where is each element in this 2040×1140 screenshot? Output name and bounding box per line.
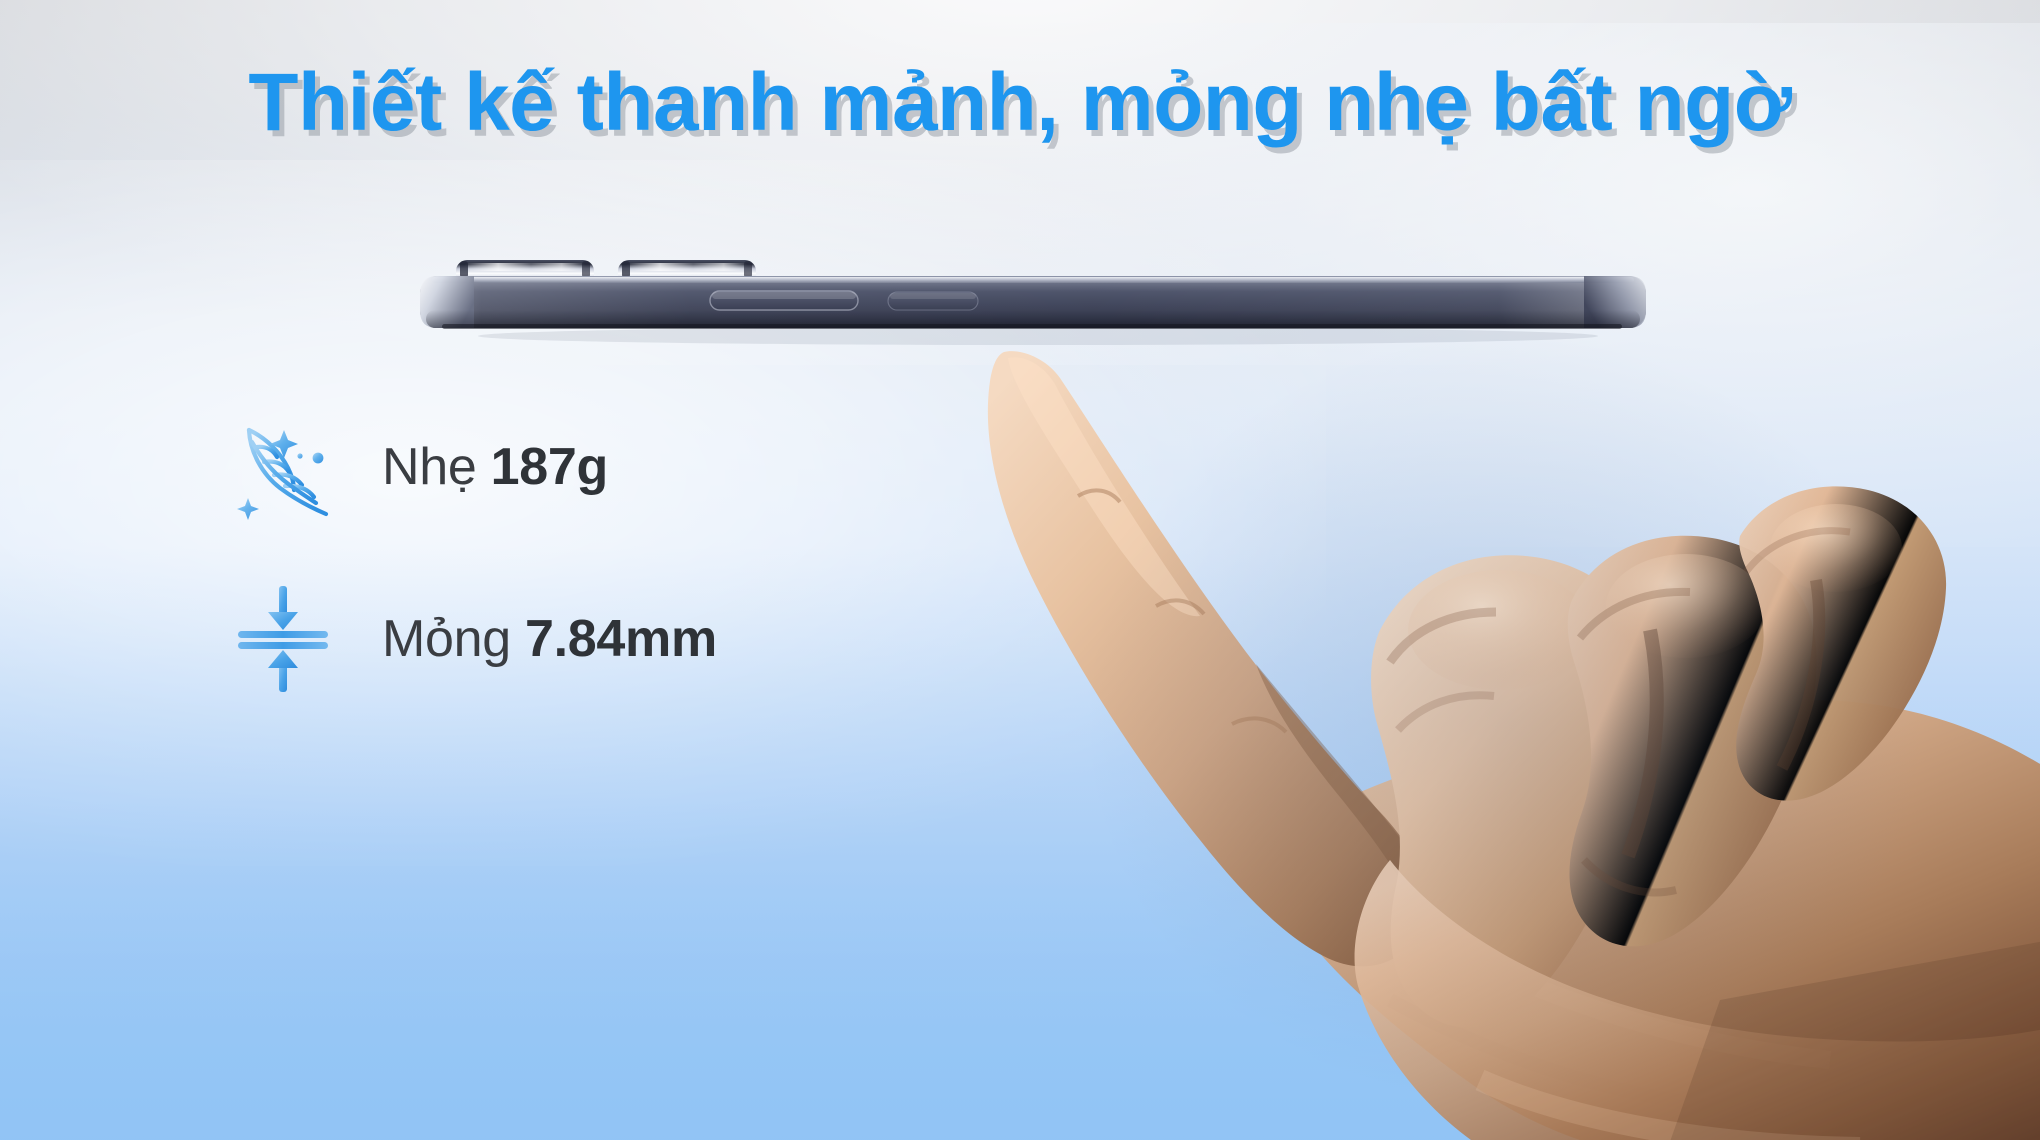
feature-prefix-thickness: Mỏng	[382, 610, 525, 668]
ring-finger-knuckle-glow	[1606, 554, 1766, 658]
feature-list: Nhẹ 187g	[228, 412, 717, 694]
feature-item-thickness: Mỏng 7.84mm	[228, 584, 717, 694]
promotional-banner: Thiết kế thanh mảnh, mỏng nhẹ bất ngờ	[0, 0, 2040, 1140]
phone-top-chamfer	[432, 277, 1634, 283]
feature-item-weight: Nhẹ 187g	[228, 412, 717, 522]
feature-value-weight: 187g	[491, 438, 608, 496]
feature-label-weight: Nhẹ 187g	[382, 437, 608, 497]
thickness-arrows-icon	[228, 584, 338, 694]
middle-finger-knuckle-glow	[1408, 570, 1592, 690]
little-finger-knuckle-glow	[1770, 504, 1902, 592]
power-button[interactable]	[710, 291, 858, 310]
page-title: Thiết kế thanh mảnh, mỏng nhẹ bất ngờ	[0, 52, 2040, 155]
arrow-up-icon	[268, 650, 298, 692]
thickness-line-top	[238, 631, 328, 638]
feature-value-thickness: 7.84mm	[525, 610, 717, 668]
feather-icon	[228, 412, 338, 522]
feature-prefix-weight: Nhẹ	[382, 438, 491, 496]
feature-label-thickness: Mỏng 7.84mm	[382, 609, 717, 669]
arrow-down-icon	[268, 586, 298, 630]
hand-illustration	[960, 300, 2040, 1140]
thickness-line-bottom	[238, 642, 328, 649]
